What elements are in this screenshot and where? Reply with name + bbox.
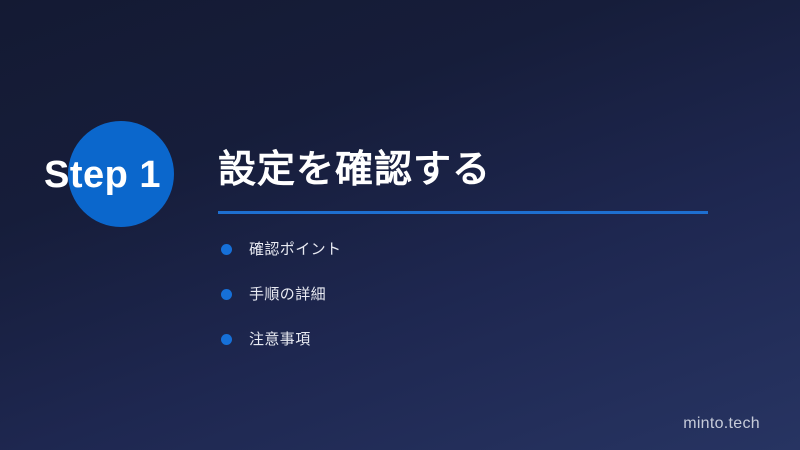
list-item-label: 手順の詳細 <box>249 287 326 303</box>
bullet-list: 確認ポイント 手順の詳細 注意事項 <box>221 242 701 377</box>
list-item-label: 注意事項 <box>249 332 311 348</box>
bullet-dot-icon <box>221 289 232 300</box>
bullet-dot-icon <box>221 244 232 255</box>
bullet-dot-icon <box>221 334 232 345</box>
list-item: 注意事項 <box>221 332 701 377</box>
step-label: Step 1 <box>44 152 161 198</box>
title-divider <box>218 211 708 214</box>
heading-block: 設定を確認する <box>218 146 710 214</box>
presentation-slide: Step 1 設定を確認する 確認ポイント 手順の詳細 注意事項 minto.t… <box>0 0 800 450</box>
list-item-label: 確認ポイント <box>249 242 341 258</box>
list-item: 手順の詳細 <box>221 287 701 332</box>
list-item: 確認ポイント <box>221 242 701 287</box>
slide-title: 設定を確認する <box>218 146 710 194</box>
footer-brand: minto.tech <box>683 415 760 433</box>
